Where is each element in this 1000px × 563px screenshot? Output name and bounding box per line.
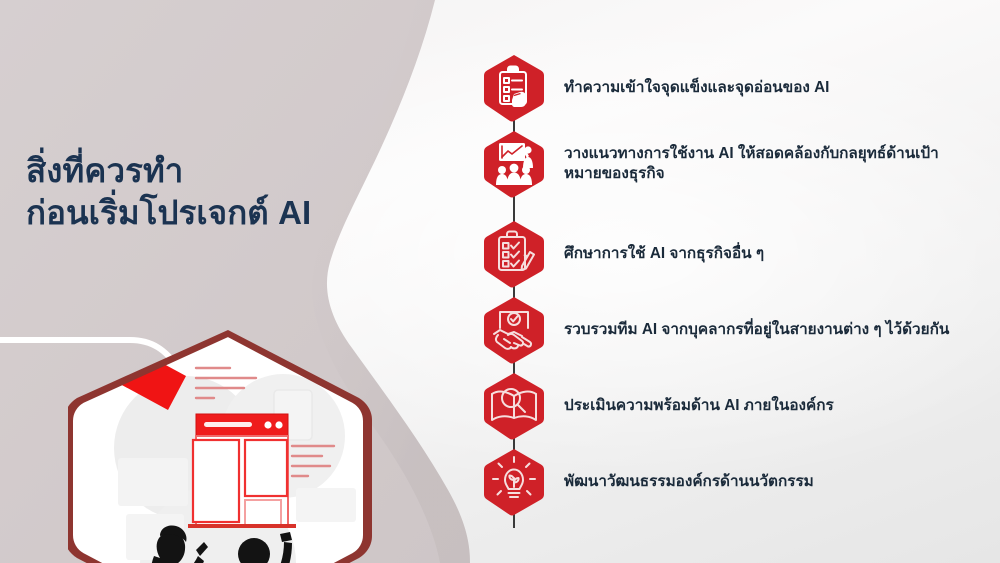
list-item-label: วางแนวทางการใช้งาน AI ให้สอดคล้องกับกลยุ… (564, 144, 964, 185)
presentation-training-icon (478, 128, 550, 200)
checklist-pencil-icon (478, 218, 550, 290)
list-item[interactable]: ศึกษาการใช้ AI จากธุรกิจอื่น ๆ (470, 218, 1000, 290)
list-item-label: พัฒนาวัฒนธรรมองค์กรด้านนวัตกรรม (564, 472, 814, 492)
lightbulb-idea-icon (478, 446, 550, 518)
list-item[interactable]: พัฒนาวัฒนธรรมองค์กรด้านนวัตกรรม (470, 446, 1000, 518)
title-line-2: ก่อนเริ่มโปรเจกต์ AI (26, 192, 446, 234)
page-title: สิ่งที่ควรทำ ก่อนเริ่มโปรเจกต์ AI (26, 150, 446, 234)
team-dashboard-hexagon-illustration (68, 328, 388, 563)
list-item[interactable]: รวบรวมทีม AI จากบุคลากรที่อยู่ในสายงานต่… (470, 294, 1000, 366)
list-item[interactable]: วางแนวทางการใช้งาน AI ให้สอดคล้องกับกลยุ… (470, 128, 1000, 200)
list-item[interactable]: ประเมินความพร้อมด้าน AI ภายในองค์กร (470, 370, 1000, 442)
title-line-1: สิ่งที่ควรทำ (26, 150, 446, 192)
book-magnifier-icon (478, 370, 550, 442)
list-item-label: ทำความเข้าใจจุดแข็งและจุดอ่อนของ AI (564, 78, 829, 98)
clipboard-hand-icon (478, 52, 550, 124)
list-item-label: ศึกษาการใช้ AI จากธุรกิจอื่น ๆ (564, 244, 764, 264)
checklist: ทำความเข้าใจจุดแข็งและจุดอ่อนของ AI (470, 52, 1000, 542)
slide-root: สิ่งที่ควรทำ ก่อนเริ่มโปรเจกต์ AI (0, 0, 1000, 563)
handshake-check-icon (478, 294, 550, 366)
list-item-label: ประเมินความพร้อมด้าน AI ภายในองค์กร (564, 396, 834, 416)
list-item-label: รวบรวมทีม AI จากบุคลากรที่อยู่ในสายงานต่… (564, 320, 949, 340)
list-item[interactable]: ทำความเข้าใจจุดแข็งและจุดอ่อนของ AI (470, 52, 1000, 124)
